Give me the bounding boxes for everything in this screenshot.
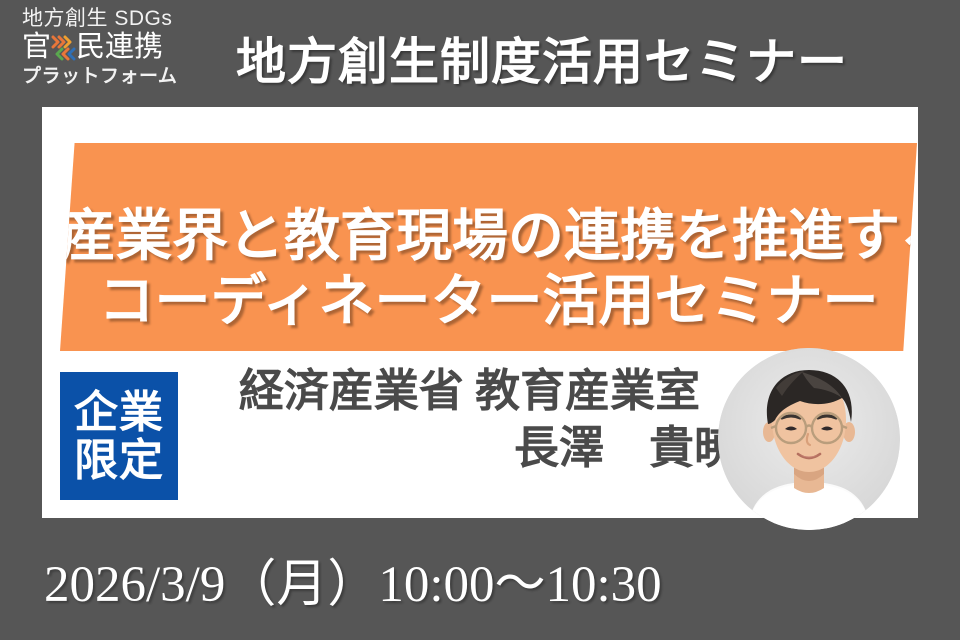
logo-line-sdgs: 地方創生 SDGs bbox=[22, 8, 202, 29]
status-badge: 企業 限定 bbox=[60, 372, 178, 500]
logo-line-kanmin: 官 民連携 bbox=[22, 33, 202, 62]
speaker-name: 長澤 貴暁 bbox=[182, 422, 757, 475]
badge-line-1: 企業 bbox=[74, 389, 164, 437]
banner-title-line-2: コーディネーター活用セミナー bbox=[60, 256, 917, 337]
content-card: 産業界と教育現場の連携を推進する コーディネーター活用セミナー 企業 限定 経済… bbox=[42, 107, 918, 518]
logo-kanji-minrenkei: 民連携 bbox=[76, 33, 163, 62]
avatar bbox=[718, 348, 900, 530]
speaker-organization: 経済産業省 教育産業室 bbox=[182, 365, 757, 418]
badge-line-2: 限定 bbox=[74, 437, 164, 485]
logo-kanji-kan: 官 bbox=[22, 33, 51, 62]
seminar-title-banner: 産業界と教育現場の連携を推進する コーディネーター活用セミナー bbox=[60, 143, 917, 351]
seminar-poster: 地方創生 SDGs 官 民連携 プラットフォーム 地方創生制度活用セミナー bbox=[0, 0, 960, 640]
bidirectional-chevrons-icon bbox=[51, 34, 76, 62]
speaker-info: 経済産業省 教育産業室 長澤 貴暁 bbox=[182, 365, 757, 475]
speaker-portrait-illustration bbox=[718, 348, 900, 530]
event-datetime: 2026/3/9（月）10:00〜10:30 bbox=[44, 542, 662, 616]
page-title: 地方創生制度活用セミナー bbox=[236, 22, 936, 94]
platform-logo: 地方創生 SDGs 官 民連携 プラットフォーム bbox=[22, 8, 202, 104]
logo-line-platform: プラットフォーム bbox=[22, 67, 202, 86]
